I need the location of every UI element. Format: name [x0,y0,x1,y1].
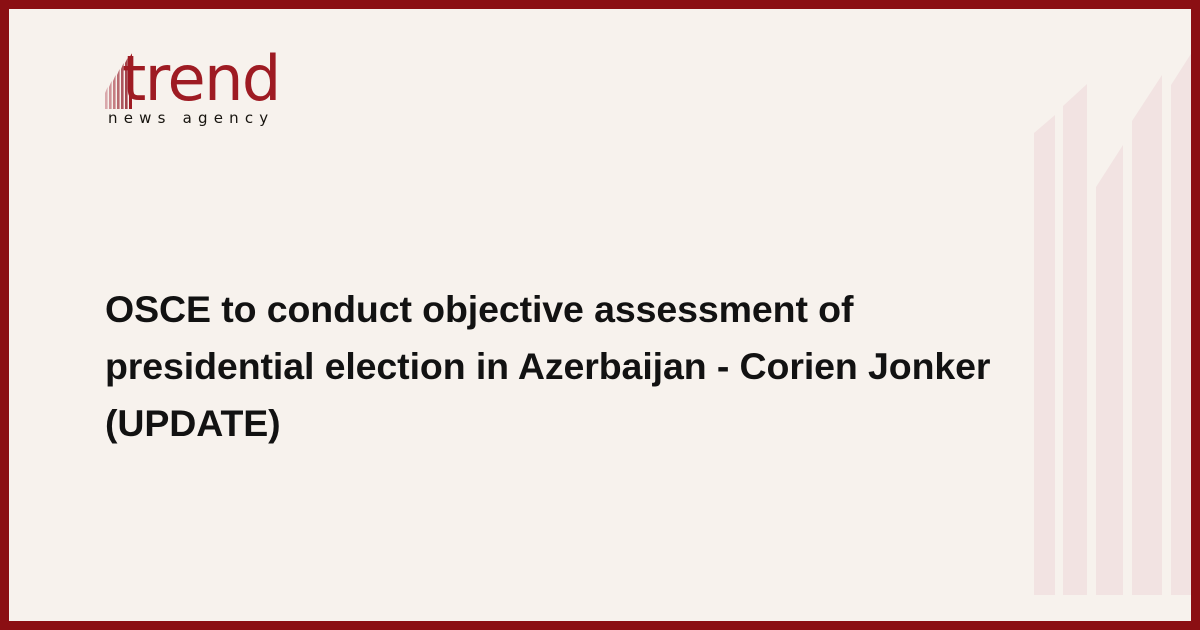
watermark-bar [1063,84,1087,595]
watermark-bar [1034,115,1055,595]
brand-wordmark: trend [122,45,280,113]
logo-bar [109,81,112,109]
watermark-bar [1171,35,1200,595]
logo-bar [117,69,120,109]
share-card: trend news agency OSCE to conduct object… [0,0,1200,630]
trend-logo[interactable]: trend news agency [96,45,336,140]
page-title: OSCE to conduct objective assessment of … [105,281,1005,452]
logo-bar [113,75,116,109]
trend-bar-watermark [1025,9,1200,595]
watermark-bar [1132,75,1162,595]
logo-bar [105,87,108,109]
brand-tagline: news agency [108,108,274,128]
watermark-bar [1096,145,1123,595]
